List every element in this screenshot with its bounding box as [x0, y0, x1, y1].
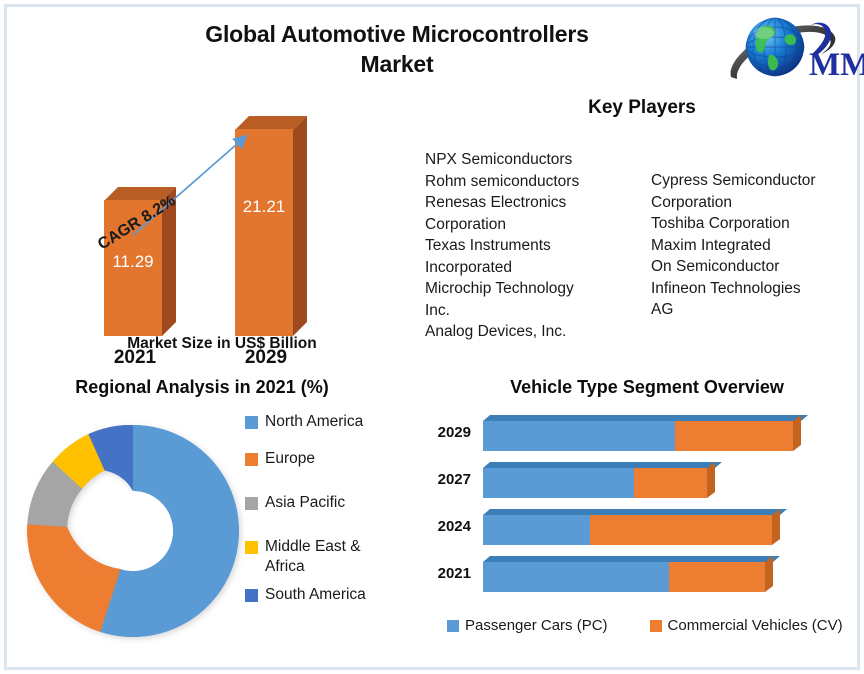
infographic-frame: Global Automotive Microcontrollers Marke…: [4, 4, 860, 670]
key-player-item: Microchip Technology: [425, 278, 625, 300]
legend-item-passenger-cars[interactable]: Passenger Cars (PC): [447, 617, 608, 634]
legend-item-south-america[interactable]: South America: [245, 585, 425, 605]
regional-legend: North America Europe Asia Pacific Middle…: [245, 412, 425, 605]
legend-item-europe[interactable]: Europe: [245, 449, 425, 469]
key-player-item: Toshiba Corporation: [651, 213, 851, 235]
market-size-caption: Market Size in US$ Billion: [77, 335, 367, 353]
key-players-right-column: Cypress Semiconductor Corporation Toshib…: [651, 170, 851, 321]
regional-donut-chart: [21, 419, 246, 645]
seg-row-2029: 2029: [425, 415, 845, 451]
seg-bar-2027-pc: [483, 468, 634, 498]
key-player-item: Corporation: [651, 192, 851, 214]
legend-label: Commercial Vehicles (CV): [668, 617, 843, 634]
legend-item-middle-east-africa[interactable]: Middle East & Africa: [245, 537, 425, 577]
key-player-item: Texas Instruments: [425, 235, 625, 257]
seg-bar-2024-cv: [590, 515, 772, 545]
seg-bar-2029: [483, 415, 808, 451]
key-player-item: Incorporated: [425, 257, 625, 279]
key-player-item: Renesas Electronics: [425, 192, 625, 214]
seg-bar-2029-pc: [483, 421, 675, 451]
donut-hole: [93, 491, 173, 571]
seg-bar-2027-side: [707, 462, 715, 498]
seg-bar-2024-pc: [483, 515, 590, 545]
seg-bar-2021-side: [765, 556, 773, 592]
seg-bar-2024: [483, 509, 787, 545]
donut-svg: [21, 419, 246, 645]
seg-bar-2024-side: [772, 509, 780, 545]
market-size-chart: 11.29 21.21 CAGR 8.2% 2021 2029: [7, 107, 407, 367]
seg-year-label: 2029: [425, 424, 471, 441]
legend-item-asia-pacific[interactable]: Asia Pacific: [245, 493, 425, 513]
bar-2029-side-face: [293, 116, 307, 336]
legend-swatch-icon: [245, 589, 258, 602]
seg-row-2027: 2027: [425, 462, 845, 498]
key-player-item: Maxim Integrated: [651, 235, 851, 257]
seg-year-label: 2021: [425, 565, 471, 582]
legend-label: Asia Pacific: [265, 493, 345, 513]
seg-bar-2029-side: [793, 415, 801, 451]
vehicle-segment-title: Vehicle Type Segment Overview: [447, 377, 847, 398]
page-title-line-2: Market: [361, 51, 434, 77]
seg-row-2021: 2021: [425, 556, 845, 592]
key-player-item: Cypress Semiconductor: [651, 170, 851, 192]
regional-analysis-title: Regional Analysis in 2021 (%): [37, 377, 367, 398]
key-players-title: Key Players: [447, 97, 837, 119]
legend-swatch-icon: [245, 541, 258, 554]
key-player-item: Infineon Technologies: [651, 278, 851, 300]
legend-swatch-icon: [245, 497, 258, 510]
key-player-item: Rohm semiconductors: [425, 171, 625, 193]
seg-bar-2021: [483, 556, 780, 592]
legend-label: Middle East & Africa: [265, 537, 390, 577]
globe-logo-icon: MMR: [725, 11, 864, 89]
legend-swatch-icon: [447, 620, 459, 632]
seg-bar-2029-cv: [675, 421, 793, 451]
seg-bar-2021-pc: [483, 562, 669, 592]
key-player-item: AG: [651, 299, 851, 321]
legend-label: North America: [265, 412, 363, 432]
key-player-item: Analog Devices, Inc.: [425, 321, 625, 343]
seg-row-2024: 2024: [425, 509, 845, 545]
key-player-item: On Semiconductor: [651, 256, 851, 278]
vehicle-segment-legend: Passenger Cars (PC) Commercial Vehicles …: [447, 617, 847, 634]
legend-item-north-america[interactable]: North America: [245, 412, 425, 432]
key-players-left-column: NPX Semiconductors Rohm semiconductors R…: [425, 149, 625, 343]
legend-swatch-icon: [245, 453, 258, 466]
legend-label: Passenger Cars (PC): [465, 617, 608, 634]
page-title-line-1: Global Automotive Microcontrollers: [205, 21, 588, 47]
seg-year-label: 2024: [425, 518, 471, 535]
key-player-item: Corporation: [425, 214, 625, 236]
bar-2021-value: 11.29: [104, 252, 162, 272]
legend-item-commercial-vehicles[interactable]: Commercial Vehicles (CV): [650, 617, 843, 634]
legend-swatch-icon: [650, 620, 662, 632]
seg-bar-2027-cv: [634, 468, 707, 498]
mmr-logo: MMR: [725, 11, 864, 89]
page-title: Global Automotive Microcontrollers Marke…: [127, 19, 667, 79]
logo-text: MMR: [809, 47, 864, 83]
legend-label: South America: [265, 585, 366, 605]
legend-label: Europe: [265, 449, 315, 469]
legend-swatch-icon: [245, 416, 258, 429]
seg-bar-2021-cv: [669, 562, 765, 592]
key-player-item: NPX Semiconductors: [425, 149, 625, 171]
key-player-item: Inc.: [425, 300, 625, 322]
seg-year-label: 2027: [425, 471, 471, 488]
seg-bar-2027: [483, 462, 722, 498]
